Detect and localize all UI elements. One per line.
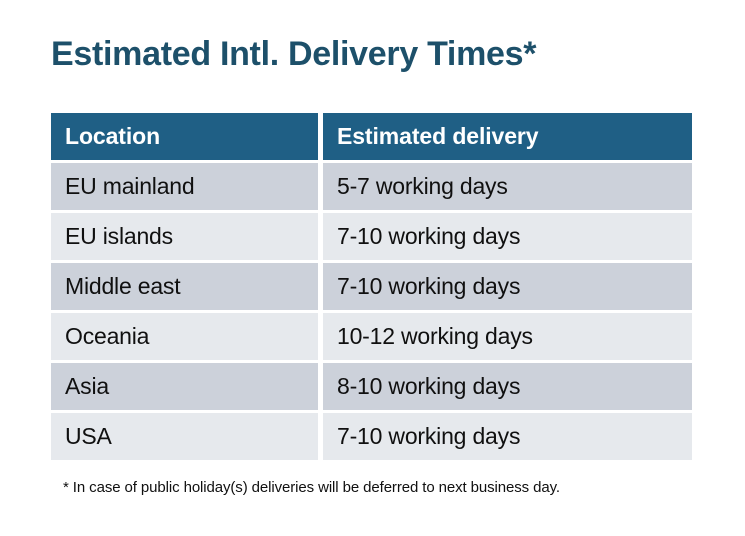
table-row: USA 7-10 working days xyxy=(51,413,692,460)
table-row: EU islands 7-10 working days xyxy=(51,213,692,260)
cell-location: EU islands xyxy=(51,213,318,260)
table-row: Middle east 7-10 working days xyxy=(51,263,692,310)
column-header-estimated-delivery: Estimated delivery xyxy=(323,113,692,160)
cell-location: EU mainland xyxy=(51,163,318,210)
delivery-times-page: Estimated Intl. Delivery Times* Location… xyxy=(0,0,745,536)
cell-estimated-delivery: 10-12 working days xyxy=(323,313,692,360)
cell-estimated-delivery: 7-10 working days xyxy=(323,263,692,310)
table-row: Oceania 10-12 working days xyxy=(51,313,692,360)
cell-location: Oceania xyxy=(51,313,318,360)
cell-location: USA xyxy=(51,413,318,460)
cell-location: Asia xyxy=(51,363,318,410)
cell-location: Middle east xyxy=(51,263,318,310)
table-header-row: Location Estimated delivery xyxy=(51,113,692,160)
cell-estimated-delivery: 7-10 working days xyxy=(323,413,692,460)
column-header-location: Location xyxy=(51,113,318,160)
page-title: Estimated Intl. Delivery Times* xyxy=(51,36,536,73)
cell-estimated-delivery: 7-10 working days xyxy=(323,213,692,260)
table-row: Asia 8-10 working days xyxy=(51,363,692,410)
delivery-times-table: Location Estimated delivery EU mainland … xyxy=(51,113,692,460)
footnote-text: * In case of public holiday(s) deliverie… xyxy=(63,479,560,496)
cell-estimated-delivery: 8-10 working days xyxy=(323,363,692,410)
table-row: EU mainland 5-7 working days xyxy=(51,163,692,210)
cell-estimated-delivery: 5-7 working days xyxy=(323,163,692,210)
